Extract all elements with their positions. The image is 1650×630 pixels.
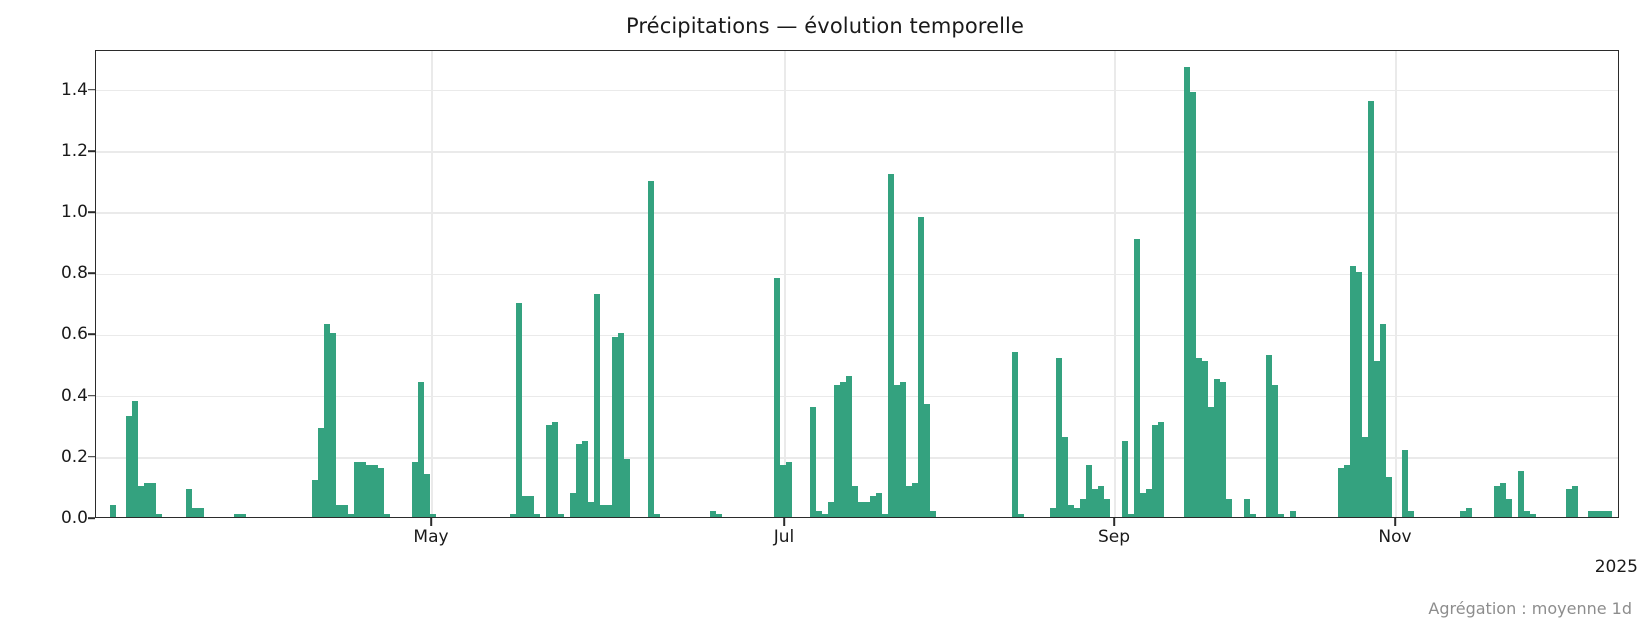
bar[interactable] xyxy=(924,404,931,517)
y-tick-label: 0.8 xyxy=(18,263,88,283)
bar[interactable] xyxy=(1250,514,1257,517)
bar[interactable] xyxy=(1134,239,1141,517)
bar[interactable] xyxy=(624,459,631,517)
y-tick-label: 1.2 xyxy=(18,141,88,161)
bar[interactable] xyxy=(516,303,523,517)
bar[interactable] xyxy=(558,514,565,517)
bar[interactable] xyxy=(1506,499,1513,517)
y-tick-mark xyxy=(88,272,95,274)
bar[interactable] xyxy=(378,468,385,517)
x-axis-title: 2025 xyxy=(1595,557,1638,577)
x-tick-mark xyxy=(1113,518,1115,526)
bar[interactable] xyxy=(786,462,793,517)
y-tick-label: 0.6 xyxy=(18,324,88,344)
y-tick-label: 0.4 xyxy=(18,386,88,406)
y-tick-mark xyxy=(88,456,95,458)
y-tick-label: 1.0 xyxy=(18,202,88,222)
bar[interactable] xyxy=(1386,477,1393,517)
y-tick-mark xyxy=(88,211,95,213)
y-tick-label: 0.0 xyxy=(18,508,88,528)
bar[interactable] xyxy=(810,407,817,517)
y-tick-mark xyxy=(88,334,95,336)
page-title: Précipitations — évolution temporelle xyxy=(0,14,1650,38)
bar-series-precipitations[interactable] xyxy=(96,51,1618,517)
bar[interactable] xyxy=(1466,508,1473,517)
bar[interactable] xyxy=(534,514,541,517)
y-axis-title: Précipitations (mm/h) xyxy=(0,0,16,98)
bar[interactable] xyxy=(240,514,247,517)
bar[interactable] xyxy=(1104,499,1111,517)
bar[interactable] xyxy=(1278,514,1285,517)
bar[interactable] xyxy=(1402,450,1409,517)
bar[interactable] xyxy=(930,511,937,517)
bar[interactable] xyxy=(654,514,661,517)
y-tick-label: 0.2 xyxy=(18,447,88,467)
bar[interactable] xyxy=(198,508,205,517)
y-tick-label: 1.4 xyxy=(18,80,88,100)
plot-area[interactable] xyxy=(95,50,1619,518)
bar[interactable] xyxy=(1158,422,1165,517)
bar[interactable] xyxy=(110,505,117,517)
x-tick-mark xyxy=(783,518,785,526)
bar[interactable] xyxy=(1012,352,1019,517)
bar[interactable] xyxy=(150,483,157,517)
bar[interactable] xyxy=(1408,511,1415,517)
x-tick-label: May xyxy=(413,527,448,547)
bar[interactable] xyxy=(424,474,431,517)
x-tick-label: Jul xyxy=(774,527,795,547)
x-tick-label: Sep xyxy=(1098,527,1130,547)
bar[interactable] xyxy=(716,514,723,517)
bar[interactable] xyxy=(552,422,559,517)
y-tick-mark xyxy=(88,517,95,519)
bar[interactable] xyxy=(1530,514,1537,517)
bar[interactable] xyxy=(648,181,655,517)
bar[interactable] xyxy=(1606,511,1613,517)
bar[interactable] xyxy=(384,514,391,517)
y-tick-mark xyxy=(88,395,95,397)
bar[interactable] xyxy=(430,514,437,517)
bar[interactable] xyxy=(1572,486,1579,517)
aggregation-annotation: Agrégation : moyenne 1d xyxy=(1428,599,1632,618)
bar[interactable] xyxy=(156,514,163,517)
x-tick-label: Nov xyxy=(1378,527,1411,547)
chart-figure: Précipitations — évolution temporelle Pr… xyxy=(0,0,1650,630)
bar[interactable] xyxy=(1018,514,1025,517)
y-tick-mark xyxy=(88,150,95,152)
bar[interactable] xyxy=(594,294,601,517)
bar[interactable] xyxy=(1290,511,1297,517)
bar[interactable] xyxy=(1272,385,1279,517)
bar[interactable] xyxy=(1220,382,1227,517)
y-tick-mark xyxy=(88,89,95,91)
x-tick-mark xyxy=(430,518,432,526)
bar[interactable] xyxy=(1122,441,1129,517)
bar[interactable] xyxy=(330,333,337,517)
x-tick-mark xyxy=(1394,518,1396,526)
bar[interactable] xyxy=(1226,499,1233,517)
